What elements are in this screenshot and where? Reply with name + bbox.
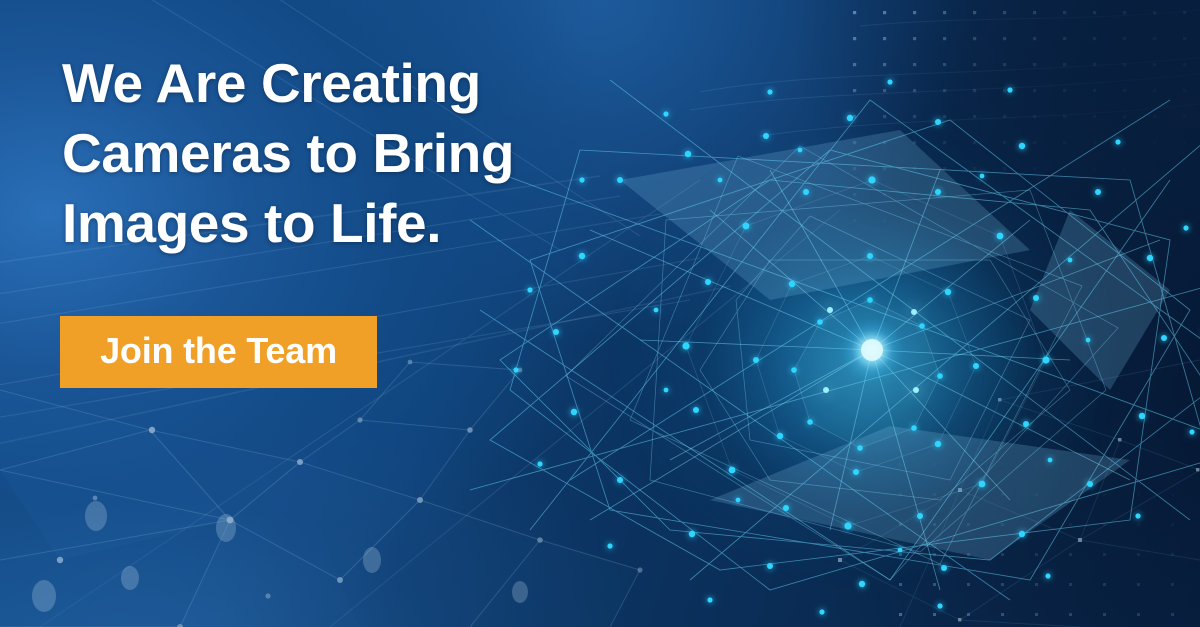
join-the-team-button[interactable]: Join the Team bbox=[60, 316, 377, 388]
headline-line-3: Images to Life. bbox=[62, 188, 602, 258]
headline-line-1: We Are Creating bbox=[62, 48, 602, 118]
headline-line-2: Cameras to Bring bbox=[62, 118, 602, 188]
join-the-team-label: Join the Team bbox=[100, 333, 337, 371]
page-title: We Are Creating Cameras to Bring Images … bbox=[62, 48, 602, 258]
banner-content: We Are Creating Cameras to Bring Images … bbox=[0, 0, 600, 627]
hero-banner: We Are Creating Cameras to Bring Images … bbox=[0, 0, 1200, 627]
